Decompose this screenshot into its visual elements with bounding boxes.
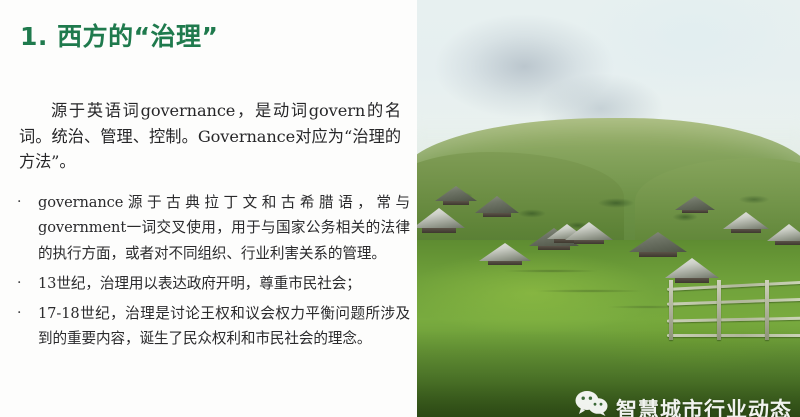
hut-wall	[639, 252, 676, 257]
bullet-dot-icon: ·	[17, 190, 21, 215]
hut-roof	[565, 222, 613, 240]
list-item: · 17-18世纪，治理是讨论王权和议会权力平衡问题所涉及到的重要内容，诞生了民…	[10, 301, 410, 352]
alpine-hut	[629, 232, 687, 252]
alpine-hut	[723, 212, 769, 229]
hut-wall	[488, 261, 521, 266]
alpine-hut	[417, 208, 465, 228]
hut-roof	[723, 212, 769, 229]
fence-rail	[667, 280, 800, 291]
fence-post	[717, 280, 721, 340]
alpine-hut	[479, 243, 531, 261]
text-panel: 1. 西方的“治理” 源于英语词governance，是动词govern的名词。…	[0, 0, 417, 417]
list-item: · governance源于古典拉丁文和古希腊语，常与government一词交…	[10, 190, 410, 266]
hut-wall	[422, 228, 455, 233]
landscape-photo: 智慧城市行业动态	[417, 0, 800, 417]
hut-wall	[775, 241, 800, 245]
alpine-hut	[767, 224, 800, 241]
hut-roof	[665, 258, 719, 278]
alpine-hut	[675, 196, 715, 210]
list-item-text: governance源于古典拉丁文和古希腊语，常与government一词交叉使…	[38, 194, 410, 262]
alpine-hut	[435, 186, 477, 201]
hut-roof	[479, 243, 531, 261]
hut-wall	[483, 213, 511, 217]
list-item-text: 13世纪，治理用以表达政府开明，尊重市民社会；	[38, 275, 361, 292]
slide-canvas: 1. 西方的“治理” 源于英语词governance，是动词govern的名词。…	[0, 0, 800, 417]
hut-roof	[629, 232, 687, 252]
alpine-hut	[565, 222, 613, 240]
hut-roof	[475, 196, 519, 213]
page-title: 1. 西方的“治理”	[20, 17, 218, 53]
hut-wall	[682, 210, 708, 214]
list-item-text: 17-18世纪，治理是讨论王权和议会权力平衡问题所涉及到的重要内容，诞生了民众权…	[38, 305, 410, 347]
wooden-fence	[667, 280, 800, 340]
hut-wall	[574, 240, 605, 245]
bullet-list: · governance源于古典拉丁文和古希腊语，常与government一词交…	[10, 190, 410, 357]
hut-roof	[767, 224, 800, 241]
fence-post	[765, 280, 769, 340]
watermark-text: 智慧城市行业动态	[616, 400, 792, 417]
fence-post	[669, 280, 673, 340]
hut-wall	[443, 201, 470, 205]
hut-roof	[435, 186, 477, 201]
bullet-dot-icon: ·	[17, 301, 21, 326]
hut-roof	[417, 208, 465, 228]
watermark: 智慧城市行业动态	[575, 390, 792, 417]
fence-rail	[667, 297, 800, 305]
alpine-hut	[475, 196, 519, 213]
hut-wall	[538, 246, 570, 251]
bullet-dot-icon: ·	[17, 271, 21, 296]
fence-rail	[667, 334, 800, 337]
list-item: · 13世纪，治理用以表达政府开明，尊重市民社会；	[10, 271, 410, 296]
intro-paragraph: 源于英语词governance，是动词govern的名词。统治、管理、控制。Go…	[19, 98, 401, 175]
alpine-hut	[665, 258, 719, 278]
hut-wall	[731, 229, 760, 233]
fence-rail	[667, 316, 800, 322]
wechat-icon	[575, 390, 609, 417]
hut-roof	[675, 196, 715, 210]
